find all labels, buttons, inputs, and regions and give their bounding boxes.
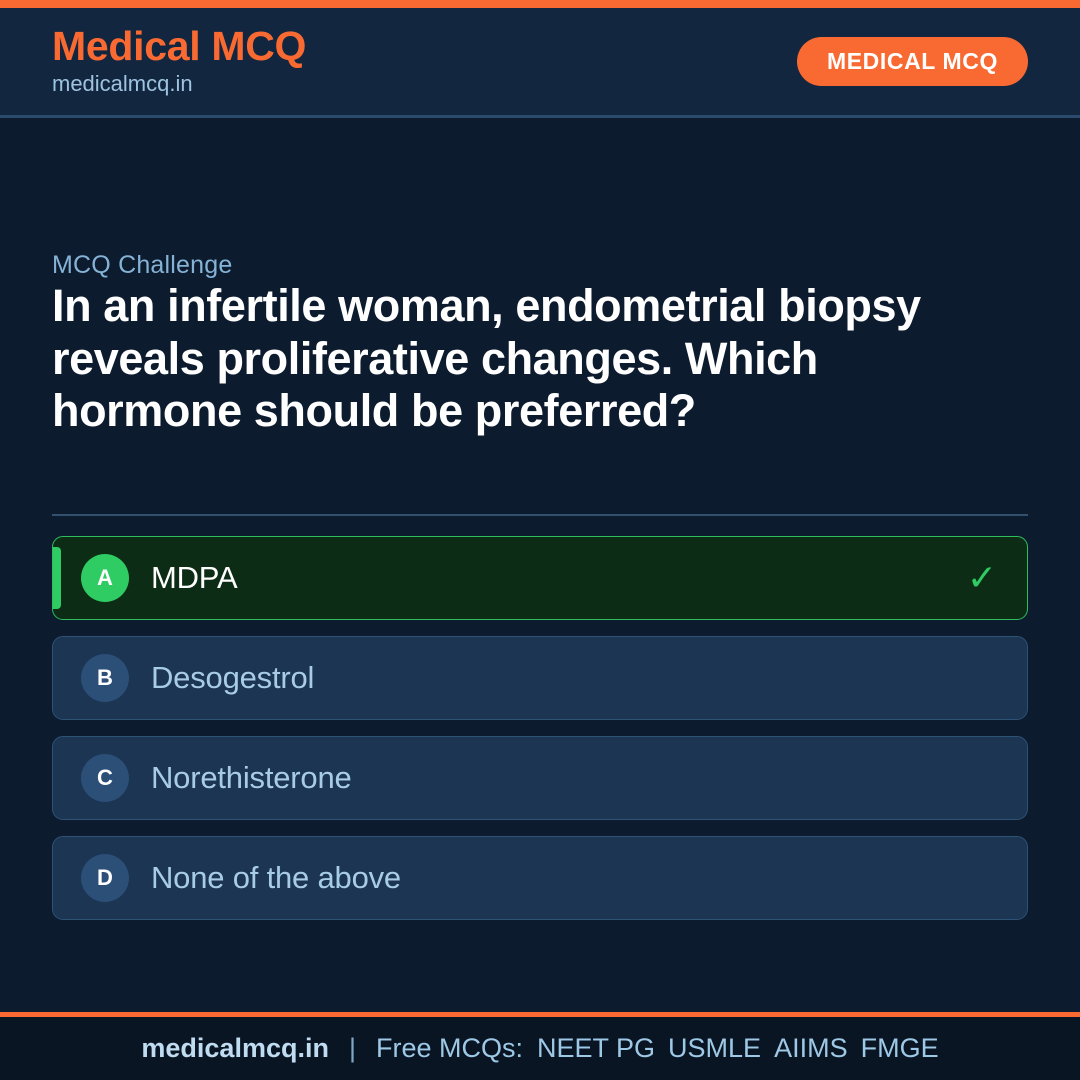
correct-accent-bar (53, 547, 61, 609)
option-letter-badge: A (81, 554, 129, 602)
option-label: None of the above (151, 860, 401, 896)
brand-block: Medical MCQ medicalmcq.in (52, 25, 306, 98)
main-content: MCQ Challenge In an infertile woman, end… (0, 118, 1080, 1012)
check-icon: ✓ (967, 560, 997, 596)
option-letter-badge: D (81, 854, 129, 902)
top-accent-bar (0, 0, 1080, 8)
footer-exam-neet-pg: NEET PG (537, 1033, 655, 1064)
option-a[interactable]: A MDPA ✓ (52, 536, 1028, 620)
footer-exam-aiims: AIIMS (774, 1033, 848, 1064)
page-footer: medicalmcq.in | Free MCQs: NEET PG USMLE… (0, 1012, 1080, 1080)
footer-separator: | (343, 1033, 362, 1064)
question-text: In an infertile woman, endometrial biops… (52, 280, 982, 438)
option-label: MDPA (151, 560, 237, 596)
option-b[interactable]: B Desogestrol (52, 636, 1028, 720)
option-label: Norethisterone (151, 760, 352, 796)
option-letter-badge: B (81, 654, 129, 702)
option-letter-badge: C (81, 754, 129, 802)
footer-exam-fmge: FMGE (861, 1033, 939, 1064)
footer-exam-tags: NEET PG USMLE AIIMS FMGE (537, 1033, 939, 1064)
footer-prefix: Free MCQs: (376, 1033, 523, 1064)
question-divider (52, 514, 1028, 516)
header-badge: MEDICAL MCQ (797, 37, 1028, 86)
footer-site: medicalmcq.in (141, 1033, 329, 1064)
option-label: Desogestrol (151, 660, 314, 696)
page-header: Medical MCQ medicalmcq.in MEDICAL MCQ (0, 8, 1080, 118)
footer-exam-usmle: USMLE (668, 1033, 761, 1064)
mcq-card: Medical MCQ medicalmcq.in MEDICAL MCQ MC… (0, 0, 1080, 1080)
eyebrow-label: MCQ Challenge (52, 251, 232, 280)
options-list: A MDPA ✓ B Desogestrol C Norethisterone … (52, 536, 1028, 920)
option-c[interactable]: C Norethisterone (52, 736, 1028, 820)
brand-title: Medical MCQ (52, 25, 306, 68)
footer-line: medicalmcq.in | Free MCQs: NEET PG USMLE… (141, 1033, 938, 1064)
brand-subtitle: medicalmcq.in (52, 70, 306, 98)
option-d[interactable]: D None of the above (52, 836, 1028, 920)
